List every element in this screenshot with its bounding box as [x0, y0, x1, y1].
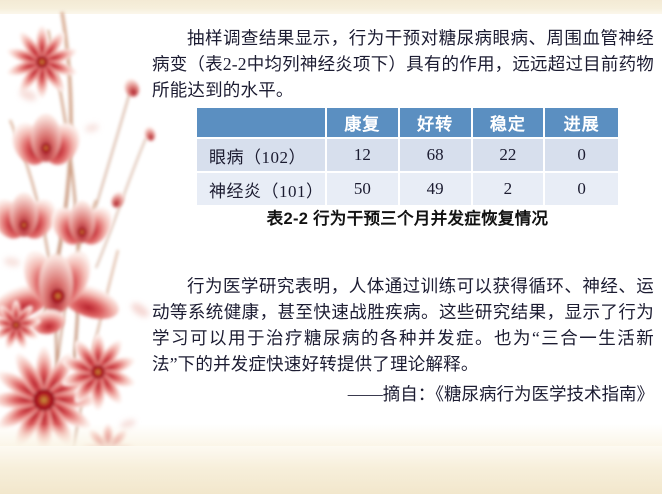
- bottom-band-fade: [0, 424, 662, 446]
- source-attribution: ——摘自：《糖尿病行为医学技术指南》: [152, 381, 654, 407]
- intro-paragraph: 抽样调查结果显示，行为干预对糖尿病眼病、周围血管神经病变（表2-2中均列神经炎项…: [152, 25, 654, 103]
- content-area: 抽样调查结果显示，行为干预对糖尿病眼病、周围血管神经病变（表2-2中均列神经炎项…: [0, 0, 662, 494]
- table-header-row: 康复 好转 稳定 进展: [197, 108, 618, 139]
- table-cell-eye-progressed: 0: [545, 139, 618, 173]
- table-cell-eye-improved: 68: [400, 139, 473, 173]
- recovery-table: 康复 好转 稳定 进展 眼病（102） 12 68 22 0: [197, 108, 618, 205]
- table-row-label-neuritis: 神经炎（101）: [197, 173, 327, 205]
- recovery-table-container: 康复 好转 稳定 进展 眼病（102） 12 68 22 0: [197, 108, 618, 205]
- table-caption: 表2-2 行为干预三个月并发症恢复情况: [197, 205, 618, 229]
- body-paragraph: 行为医学研究表明，人体通过训练可以获得循环、神经、运动等系统健康，甚至快速战胜疾…: [152, 273, 654, 377]
- table-header-recovered: 康复: [327, 108, 400, 139]
- table-row: 眼病（102） 12 68 22 0: [197, 139, 618, 173]
- table-row: 神经炎（101） 50 49 2 0: [197, 173, 618, 205]
- table-cell-neuritis-progressed: 0: [545, 173, 618, 205]
- table-header-stable: 稳定: [473, 108, 546, 139]
- table-header-progressed: 进展: [545, 108, 618, 139]
- table-cell-neuritis-recovered: 50: [327, 173, 400, 205]
- table-cell-eye-stable: 22: [473, 139, 546, 173]
- table-cell-eye-recovered: 12: [327, 139, 400, 173]
- table-row-label-eye: 眼病（102）: [197, 139, 327, 173]
- table-header-improved: 好转: [400, 108, 473, 139]
- bottom-band: [0, 446, 662, 494]
- table-cell-neuritis-stable: 2: [473, 173, 546, 205]
- table-header-corner: [197, 108, 327, 139]
- slide-root: 抽样调查结果显示，行为干预对糖尿病眼病、周围血管神经病变（表2-2中均列神经炎项…: [0, 0, 662, 494]
- table-cell-neuritis-improved: 49: [400, 173, 473, 205]
